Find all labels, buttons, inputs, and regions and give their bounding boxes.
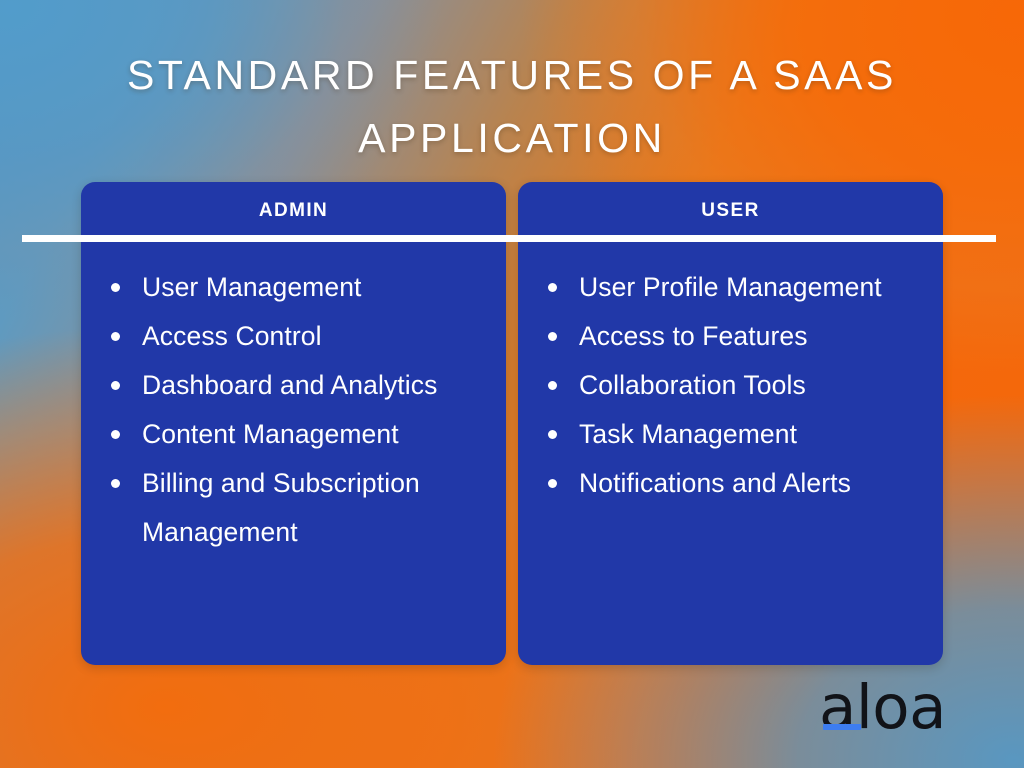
list-item: User Management: [105, 263, 488, 312]
list-item: Notifications and Alerts: [542, 459, 925, 508]
list-item-label: Notifications and Alerts: [579, 468, 851, 498]
list-item-label: Access to Features: [579, 321, 808, 351]
list-item: User Profile Management: [542, 263, 925, 312]
list-item: Access Control: [105, 312, 488, 361]
bullet-icon: [111, 283, 120, 292]
bullet-icon: [548, 381, 557, 390]
card-admin: ADMIN User Management Access Control Das…: [81, 182, 506, 665]
feature-cards-container: ADMIN User Management Access Control Das…: [81, 182, 943, 665]
list-item: Collaboration Tools: [542, 361, 925, 410]
list-item-label: User Management: [142, 272, 362, 302]
list-item-label: Billing and Subscription Management: [142, 468, 420, 547]
aloa-logo-wordmark: aloa: [819, 676, 946, 740]
list-item-label: Task Management: [579, 419, 797, 449]
bullet-icon: [548, 332, 557, 341]
aloa-logo: aloa: [819, 676, 946, 740]
bullet-icon: [548, 479, 557, 488]
bullet-icon: [111, 479, 120, 488]
list-item-label: Access Control: [142, 321, 322, 351]
list-item-label: Dashboard and Analytics: [142, 370, 437, 400]
list-item-label: Content Management: [142, 419, 399, 449]
list-item-label: User Profile Management: [579, 272, 882, 302]
slide-canvas: STANDARD FEATURES OF A SAAS APPLICATION …: [0, 0, 1024, 768]
bullet-icon: [548, 430, 557, 439]
bullet-icon: [548, 283, 557, 292]
divider-rule: [22, 235, 996, 242]
list-item: Task Management: [542, 410, 925, 459]
bullet-icon: [111, 381, 120, 390]
admin-feature-list: User Management Access Control Dashboard…: [105, 263, 488, 557]
aloa-logo-underline-accent: [823, 724, 861, 730]
card-admin-body: User Management Access Control Dashboard…: [81, 239, 506, 665]
bullet-icon: [111, 430, 120, 439]
card-user-body: User Profile Management Access to Featur…: [518, 239, 943, 665]
card-user: USER User Profile Management Access to F…: [518, 182, 943, 665]
list-item: Access to Features: [542, 312, 925, 361]
card-admin-header: ADMIN: [81, 182, 506, 239]
bullet-icon: [111, 332, 120, 341]
user-feature-list: User Profile Management Access to Featur…: [542, 263, 925, 508]
list-item: Dashboard and Analytics: [105, 361, 488, 410]
card-user-header: USER: [518, 182, 943, 239]
list-item-label: Collaboration Tools: [579, 370, 806, 400]
list-item: Billing and Subscription Management: [105, 459, 488, 557]
page-title: STANDARD FEATURES OF A SAAS APPLICATION: [112, 44, 912, 170]
list-item: Content Management: [105, 410, 488, 459]
